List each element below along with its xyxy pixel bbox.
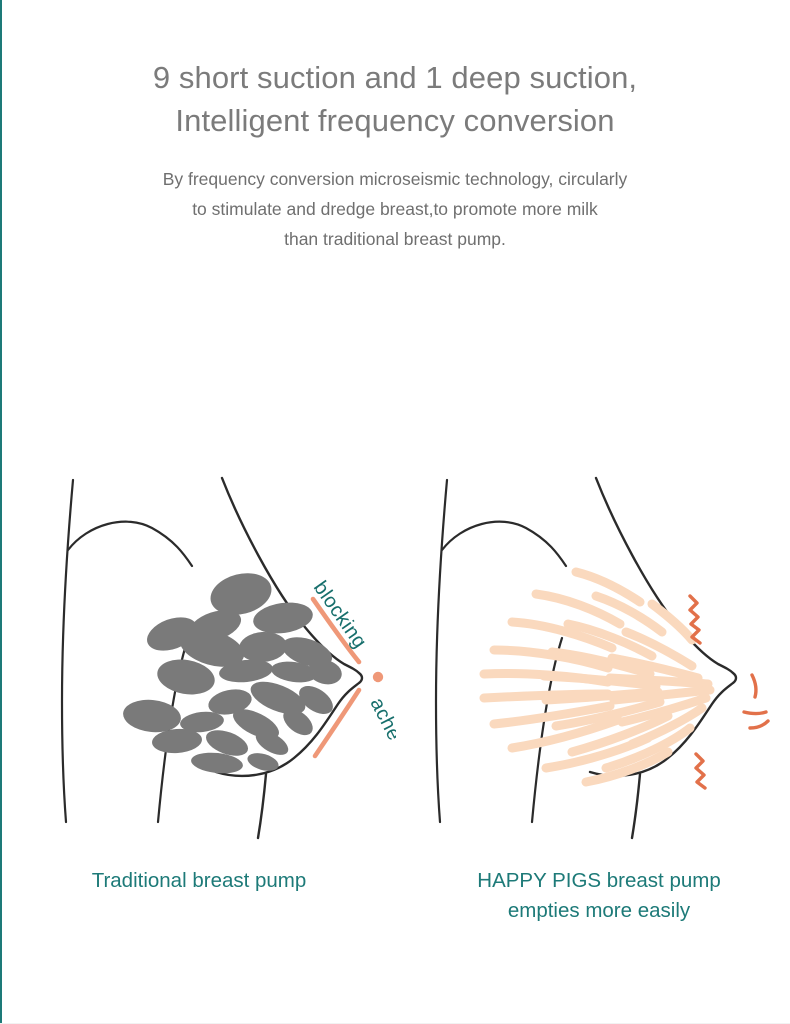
annotation-ache: ache: [366, 694, 396, 744]
page-subtitle: By frequency conversion microseismic tec…: [0, 164, 790, 254]
caption-happy-pigs-pump: HAPPY PIGS breast pump empties more easi…: [414, 866, 784, 926]
vibration-arc-far: [750, 721, 768, 728]
left-body-outline: [62, 480, 192, 822]
vibration-zigzag-top: [690, 596, 700, 643]
page-title: 9 short suction and 1 deep suction, Inte…: [0, 56, 790, 142]
vibration-arc-mid: [744, 712, 766, 714]
caption-happy-pigs-pump-line-1: HAPPY PIGS breast pump: [414, 866, 784, 896]
nipple-marker-dot: [373, 672, 383, 682]
page-title-line-1: 9 short suction and 1 deep suction,: [0, 56, 790, 99]
vibration-zigzag-bottom: [696, 754, 705, 788]
product-infographic-page: 9 short suction and 1 deep suction, Inte…: [0, 0, 790, 1024]
page-subtitle-line-2: to stimulate and dredge breast,to promot…: [0, 194, 790, 224]
traditional-pump-illustration: blocking ache: [26, 466, 396, 846]
happy-pigs-pump-illustration: [400, 466, 770, 846]
caption-traditional-pump: Traditional breast pump: [14, 866, 384, 896]
page-subtitle-line-1: By frequency conversion microseismic tec…: [0, 164, 790, 194]
caption-traditional-pump-line-1: Traditional breast pump: [14, 866, 384, 896]
page-title-line-2: Intelligent frequency conversion: [0, 99, 790, 142]
caption-happy-pigs-pump-line-2: empties more easily: [414, 896, 784, 926]
page-subtitle-line-3: than traditional breast pump.: [0, 224, 790, 254]
left-edge-accent-rule: [0, 0, 2, 1024]
vibration-arc-near: [752, 675, 756, 697]
